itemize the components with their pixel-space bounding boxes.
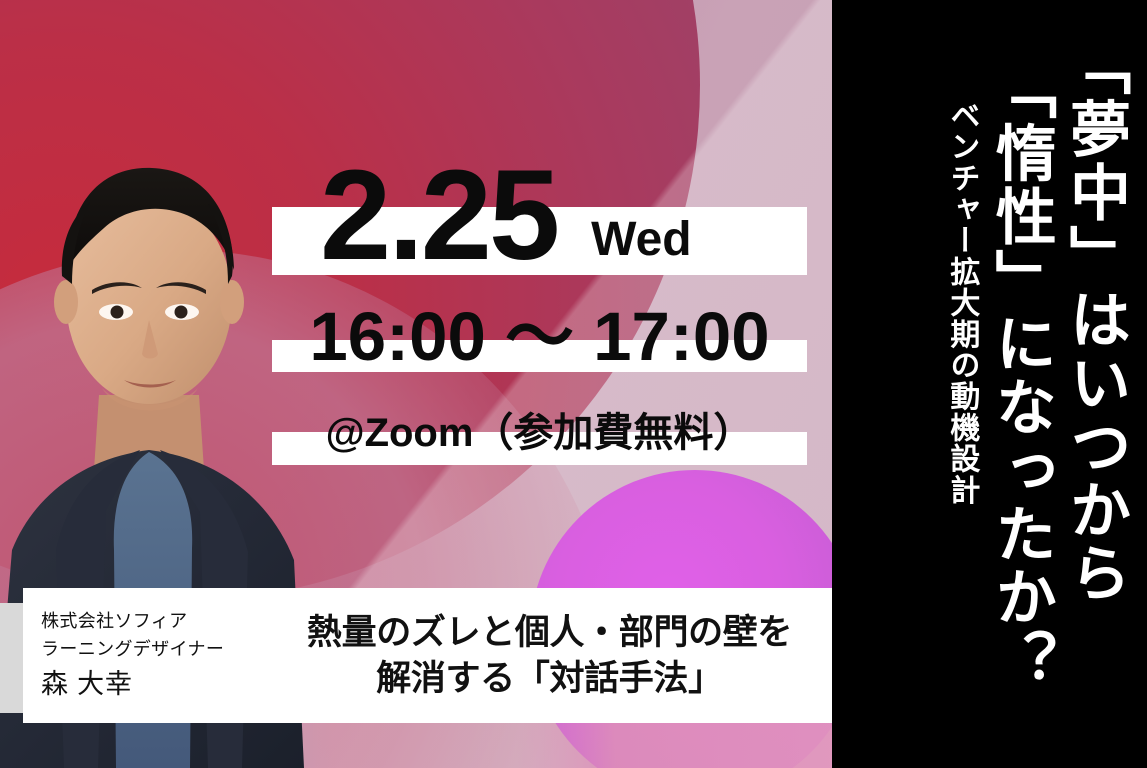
session-title-line2: 解消する「対話手法」 [285,656,814,702]
event-venue: @Zoom（参加費無料） [326,400,754,458]
speaker-role: ラーニングデザイナー [41,636,285,664]
speaker-name: 森 大幸 [41,666,285,702]
event-day-of-week: Wed [591,212,691,267]
event-time-row: 16:00 ～ 17:00 [272,288,807,372]
event-time: 16:00 ～ 17:00 [309,280,769,380]
event-date: 2.25 [320,157,557,275]
session-title: 熱量のズレと個人・部門の壁を 解消する「対話手法」 [285,610,832,701]
seminar-poster: 2.25 Wed 16:00 ～ 17:00 @Zoom（参加費無料） 株式会社… [0,0,1147,768]
speaker-organization: 株式会社ソフィア [41,608,285,636]
event-date-row: 2.25 Wed [272,140,807,275]
bottom-info-card: 株式会社ソフィア ラーニングデザイナー 森 大幸 熱量のズレと個人・部門の壁を … [23,588,832,723]
card-left-grey-strip [0,603,24,713]
headline-line-2: 「惰性」になったか？ [984,58,1052,692]
speaker-info: 株式会社ソフィア ラーニングデザイナー 森 大幸 [23,608,285,702]
vertical-headline-panel: 「夢中」はいつから 「惰性」になったか？ ベンチャー拡大期の動機設計 [832,0,1147,768]
headline-line-1: 「夢中」はいつから [1059,34,1127,605]
headline-subtitle: ベンチャー拡大期の動機設計 [945,100,978,506]
event-venue-row: @Zoom（参加費無料） [272,393,807,465]
session-title-line1: 熱量のズレと個人・部門の壁を [285,610,814,656]
